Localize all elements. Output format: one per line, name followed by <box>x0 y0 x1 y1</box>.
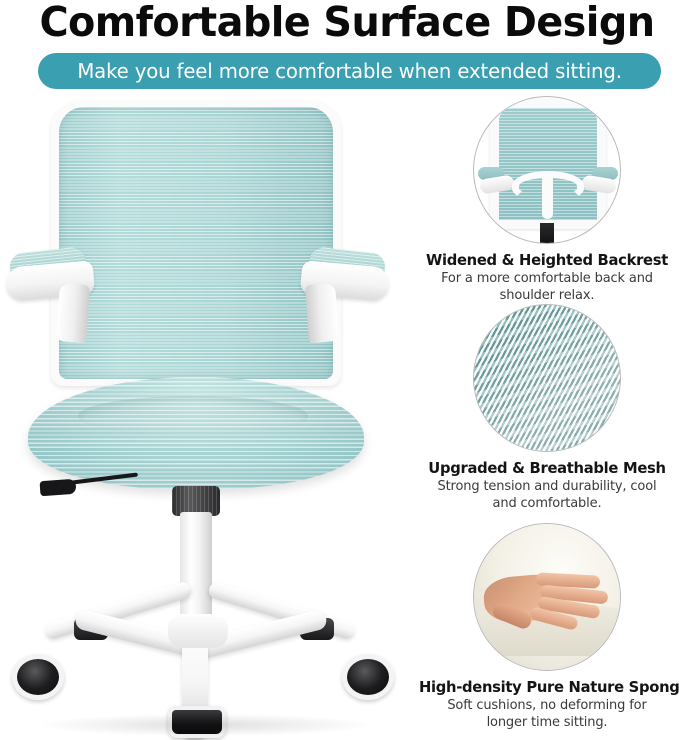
caster-wheel <box>342 654 394 700</box>
caster-left <box>12 654 64 704</box>
armrest-right <box>279 248 389 338</box>
mesh-texture-overlay <box>474 305 620 451</box>
feature-description: Strong tension and durability, cool and … <box>419 479 675 513</box>
armrest-post-right <box>305 283 339 343</box>
five-star-base <box>0 528 420 726</box>
feature-description: For a more comfortable back and shoulder… <box>419 271 675 305</box>
caster-right <box>342 654 394 704</box>
armrest-post-left <box>56 283 90 343</box>
feature-title: Widened & Heighted Backrest <box>419 251 675 269</box>
feature-title: High-density Pure Nature Sponge <box>419 678 675 696</box>
seat-crease <box>78 396 308 436</box>
caster-wheel <box>12 654 64 700</box>
hand-pressing-sponge-photo <box>473 523 621 671</box>
feature-item-sponge: High-density Pure Nature Sponge Soft cus… <box>415 523 679 732</box>
feature-item-mesh: Upgraded & Breathable Mesh Strong tensio… <box>415 304 679 513</box>
base-hub <box>168 614 228 648</box>
height-adjust-lever <box>40 474 138 498</box>
mesh-closeup-photo <box>473 304 621 452</box>
subtitle-text: Make you feel more comfortable when exte… <box>77 59 621 83</box>
backrest-mesh <box>59 107 333 379</box>
feature-list: Widened & Heighted Backrest For a more c… <box>415 96 679 726</box>
page-title: Comfortable Surface Design <box>39 0 650 46</box>
feature-description: Soft cushions, no deforming for longer t… <box>419 698 675 732</box>
product-hero-image <box>0 96 420 726</box>
armrest-left <box>6 248 116 338</box>
backrest-stem-detail <box>540 223 554 244</box>
feature-item-backrest: Widened & Heighted Backrest For a more c… <box>415 96 679 305</box>
chair-back-view-photo <box>473 96 621 244</box>
hand-illustration <box>484 568 610 630</box>
subtitle-pill: Make you feel more comfortable when exte… <box>38 53 661 89</box>
backrest-spine-detail <box>542 173 553 219</box>
header-banner: Comfortable Surface Design Make you feel… <box>0 0 679 96</box>
feature-title: Upgraded & Breathable Mesh <box>419 459 675 477</box>
floor-shadow <box>40 714 370 736</box>
